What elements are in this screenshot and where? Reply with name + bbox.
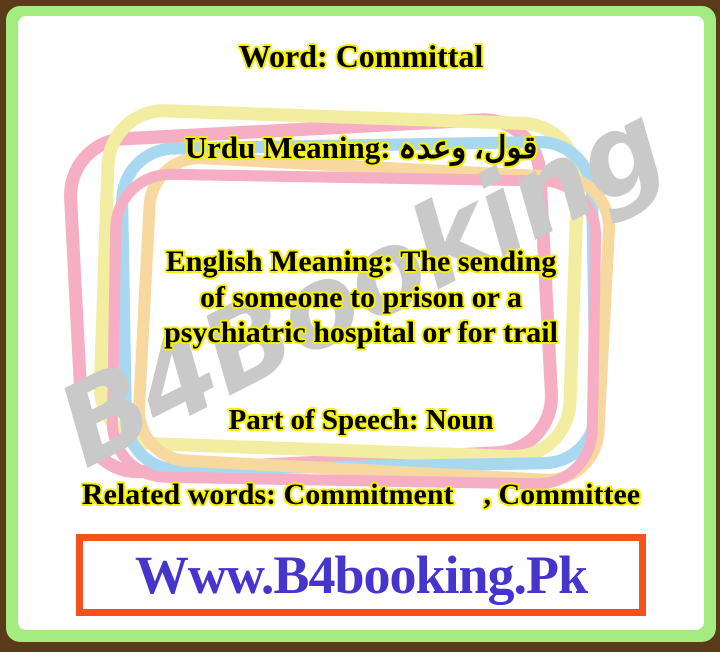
word-line: Word: Committal — [239, 38, 483, 76]
urdu-meaning-line: Urdu Meaning: قول، وعدہ — [185, 130, 538, 167]
english-meaning-line: of someone to prison or a — [164, 280, 558, 315]
website-url-text: Www.B4booking.Pk — [135, 544, 587, 606]
related-words-line: Related words: Commitment , Committee — [82, 477, 640, 512]
english-meaning-line: English Meaning: The sending — [164, 244, 558, 279]
card-canvas: B4Booking Word: Committal Urdu Meaning: … — [18, 16, 704, 630]
website-url-banner[interactable]: Www.B4booking.Pk — [76, 534, 646, 616]
english-meaning-line: psychiatric hospital or for trail — [164, 315, 558, 350]
vocabulary-card: B4Booking Word: Committal Urdu Meaning: … — [0, 0, 720, 652]
part-of-speech-line: Part of Speech: Noun — [228, 403, 493, 437]
english-meaning-block: English Meaning: The sending of someone … — [164, 244, 558, 350]
card-green-frame: B4Booking Word: Committal Urdu Meaning: … — [6, 6, 716, 642]
